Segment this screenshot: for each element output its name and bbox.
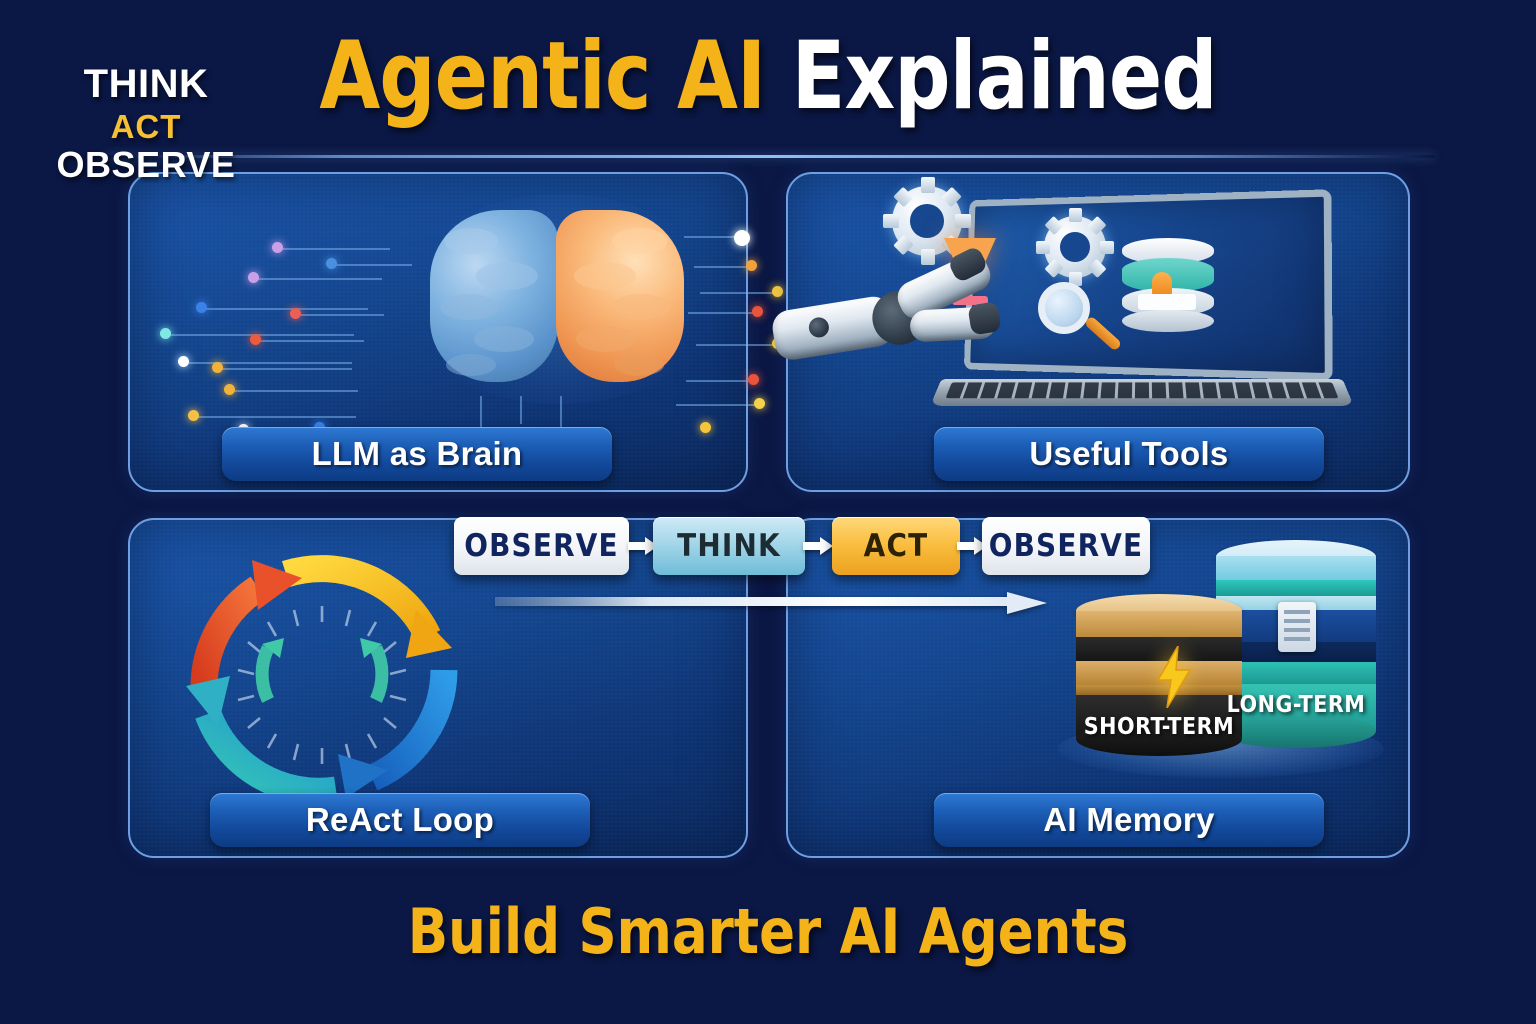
loop-inner-arc-left	[262, 648, 268, 700]
pipeline-chip-label: THINK	[677, 528, 781, 564]
pipeline-chip-label: OBSERVE	[989, 528, 1144, 564]
panel-label-ai-memory[interactable]: AI Memory	[934, 793, 1324, 847]
pipeline-chip-label: ACT	[864, 528, 929, 564]
panel-label-react-loop[interactable]: ReAct Loop	[210, 793, 590, 847]
loop-arrow-yellow	[286, 569, 428, 636]
pipeline-chip-label: OBSERVE	[464, 528, 619, 564]
brain-illustration	[128, 172, 748, 432]
loop-inner-arc-right	[376, 648, 382, 700]
react-cycle-svg	[176, 548, 468, 796]
title-white-part: Explained	[792, 22, 1217, 131]
cylinder-short-term: SHORT-TERM	[1076, 594, 1242, 760]
arrow-right-icon	[803, 537, 833, 555]
tagline: Build Smarter AI Agents	[38, 895, 1497, 968]
robot-hand-laptop-illustration	[786, 172, 1410, 432]
brain-right-hemisphere	[556, 210, 684, 382]
panel-label-llm-text: LLM as Brain	[312, 435, 523, 473]
pipeline-chip-think[interactable]: THINK	[653, 517, 805, 575]
panel-label-llm-as-brain[interactable]: LLM as Brain	[222, 427, 612, 481]
infographic-canvas: Agentic AI Explained	[0, 0, 1536, 1024]
document-stack-icon	[1278, 602, 1316, 652]
panel-label-memory-text: AI Memory	[1043, 801, 1214, 839]
panel-label-loop-text: ReAct Loop	[306, 801, 494, 839]
title-divider	[105, 155, 1435, 158]
pipeline-chip-act[interactable]: ACT	[832, 517, 960, 575]
brain-left-hemisphere	[430, 210, 558, 382]
magnifier-icon	[1038, 282, 1090, 334]
flow-arrow-right	[495, 592, 1047, 614]
react-cycle-wheel	[176, 548, 468, 796]
laptop-keyboard	[946, 382, 1339, 398]
page-title: Agentic AI Explained	[54, 26, 1482, 128]
panel-label-tools-text: Useful Tools	[1029, 435, 1228, 473]
pipeline-chip-observe-2[interactable]: OBSERVE	[982, 517, 1150, 575]
panel-label-useful-tools[interactable]: Useful Tools	[934, 427, 1324, 481]
loop-arrow-teal	[208, 714, 336, 791]
gear-icon	[1044, 216, 1106, 278]
lightning-bolt-icon	[1154, 646, 1194, 708]
memory-label-short-term: SHORT-TERM	[1076, 714, 1242, 740]
title-gold-part: Agentic AI	[319, 22, 765, 131]
pipeline-chip-observe-1[interactable]: OBSERVE	[454, 517, 629, 575]
laptop-base	[930, 379, 1354, 406]
database-icon	[1122, 238, 1214, 330]
